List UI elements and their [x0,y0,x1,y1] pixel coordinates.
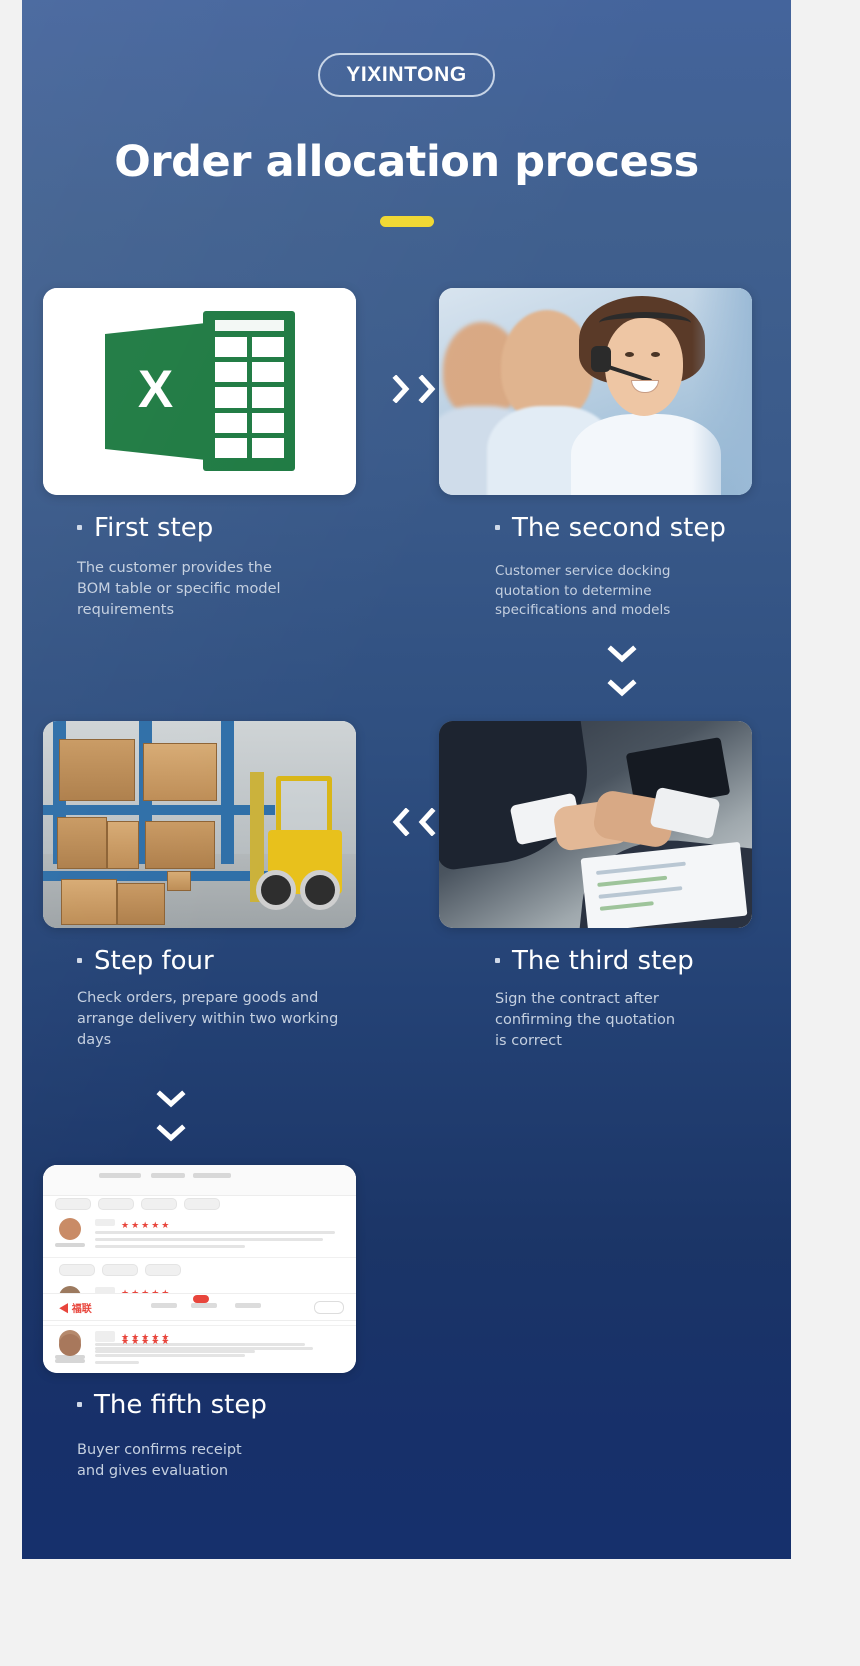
reviews-brand-label: ◀ 福联 [59,1300,92,1315]
step-1-image-card: X [43,288,356,495]
excel-spreadsheet-icon: X [43,288,356,495]
step-3-description: Sign the contract after confirming the q… [495,989,745,1052]
review-stars: ★★★★★ [121,1220,171,1231]
chevron-down-icon [156,1124,174,1152]
step-bullet-icon [495,525,500,530]
chevron-left-icon [392,808,410,836]
step-3-title-text: The third step [512,946,694,976]
step-bullet-icon [77,525,82,530]
step-5-image-card: ★★★★★ ★★★★★ [43,1165,356,1373]
step-5-title-text: The fifth step [94,1390,267,1420]
chevron-down-icon [607,645,625,673]
step-2-title-text: The second step [512,513,726,543]
step-4-description: Check orders, prepare goods and arrange … [77,988,372,1051]
chevron-right-icon [392,375,410,403]
step-4-image-card [43,721,356,928]
page-root: YIXINTONG Order allocation process X Fir… [0,0,860,1666]
title-underline-rule [380,216,434,227]
step-1-title: First step [77,513,213,543]
brand-logo: YIXINTONG [22,53,791,97]
arrow-2-to-3 [607,645,625,707]
step-2-image-card [439,288,752,495]
excel-letter: X [105,359,206,420]
arrow-3-to-4 [392,808,436,836]
excel-grid-cells [215,337,284,458]
step-3-image-card [439,721,752,928]
step-5-title: The fifth step [77,1390,267,1420]
step-5-description: Buyer confirms receipt and gives evaluat… [77,1440,337,1482]
call-center-agents-photo [439,288,752,495]
step-1-description: The customer provides the BOM table or s… [77,558,337,621]
chevron-right-icon [418,375,436,403]
step-bullet-icon [495,958,500,963]
page-title: Order allocation process [22,137,791,187]
chevron-down-icon [607,679,625,707]
step-bullet-icon [77,1402,82,1407]
step-4-title-text: Step four [94,946,214,976]
order-process-poster: YIXINTONG Order allocation process X Fir… [22,0,791,1559]
step-2-title: The second step [495,513,726,543]
step-4-title: Step four [77,946,214,976]
step-3-title: The third step [495,946,694,976]
arrow-4-to-5 [156,1090,174,1152]
step-1-title-text: First step [94,513,213,543]
handshake-contract-photo [439,721,752,928]
step-2-description: Customer service docking quotation to de… [495,562,745,621]
excel-doc-shape: X [105,323,206,460]
excel-grid-header [215,320,284,331]
excel-grid-shape [203,311,295,471]
warehouse-forklift-photo [43,721,356,928]
chevron-down-icon [156,1090,174,1118]
brand-logo-text: YIXINTONG [318,53,495,97]
customer-reviews-screenshot: ★★★★★ ★★★★★ [43,1165,356,1373]
review-stars: ★★★★★ [121,1336,171,1347]
arrow-1-to-2 [392,375,436,403]
step-bullet-icon [77,958,82,963]
chevron-left-icon [418,808,436,836]
